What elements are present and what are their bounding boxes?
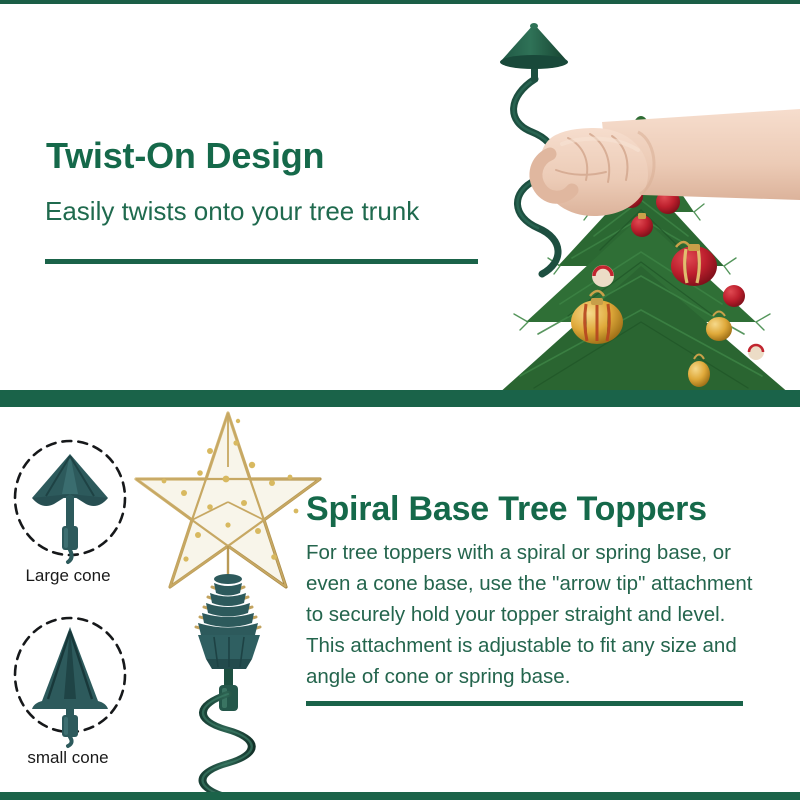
cone-cap-icon <box>500 23 568 69</box>
small-cone-attachment-icon <box>12 615 128 743</box>
ornament-red-small-d <box>723 285 745 307</box>
bottom-panel: Spiral Base Tree Toppers For tree topper… <box>0 407 800 792</box>
spring-cone-base-graphic <box>196 574 260 669</box>
section-divider-band <box>0 390 800 407</box>
bottom-panel-divider-rule <box>306 701 743 706</box>
bottom-panel-headline: Spiral Base Tree Toppers <box>306 490 707 529</box>
callout-large-cone: Large cone <box>12 438 128 588</box>
hand-and-tree-illustration <box>498 4 800 390</box>
top-panel-divider-rule <box>45 259 478 264</box>
product-feature-graphic: Twist-On Design Easily twists onto your … <box>0 0 800 800</box>
top-panel: Twist-On Design Easily twists onto your … <box>0 4 800 390</box>
callout-small-cone-label: small cone <box>10 748 126 768</box>
bottom-panel-body-text: For tree toppers with a spiral or spring… <box>306 537 756 692</box>
top-panel-headline: Twist-On Design <box>46 135 324 177</box>
star-topper-illustration <box>140 407 330 792</box>
callout-large-cone-label: Large cone <box>10 566 126 586</box>
ornament-swirl-left <box>592 265 614 287</box>
top-panel-subhead: Easily twists onto your tree trunk <box>45 196 419 227</box>
large-cone-attachment-icon <box>12 438 128 562</box>
bottom-border-accent <box>0 792 800 800</box>
ornament-swirl-right <box>748 344 764 360</box>
callout-small-cone: small cone <box>12 615 128 770</box>
